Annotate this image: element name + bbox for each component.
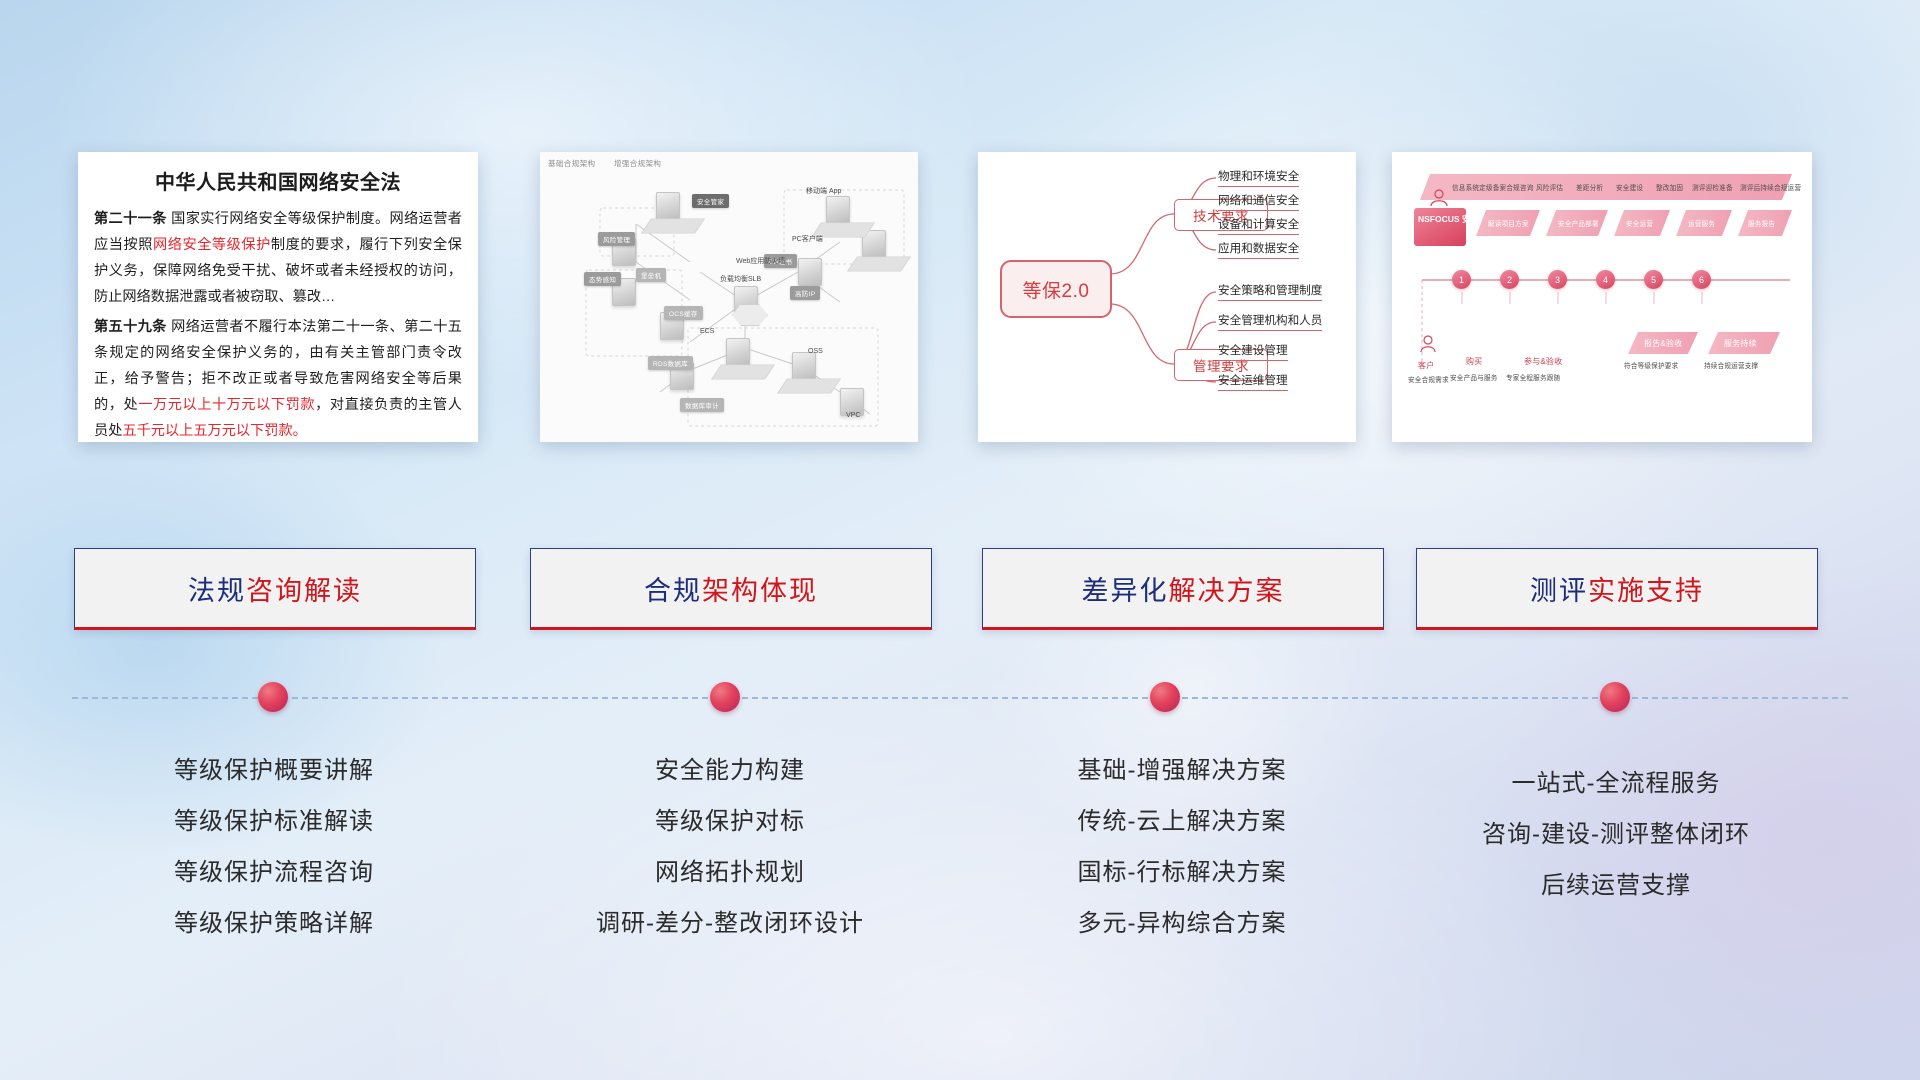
list-item: 传统-云上解决方案 <box>982 796 1382 847</box>
list-item: 等级保护标准解读 <box>74 796 474 847</box>
pillar-3-navy: 差异化 <box>1082 576 1169 606</box>
pillar-1-red: 咨询解读 <box>246 576 362 606</box>
list-item: 国标-行标解决方案 <box>982 847 1382 898</box>
list-item: 一站式-全流程服务 <box>1416 758 1816 809</box>
pillar-evaluation-support[interactable]: 测评实施支持 <box>1416 548 1818 630</box>
pillar-1-text: 法规咨询解读 <box>188 569 362 608</box>
list-item: 等级保护对标 <box>530 796 930 847</box>
timeline-dashed-line <box>72 697 1848 699</box>
pillar-2-red: 架构体现 <box>702 576 818 606</box>
pillar-4-text: 测评实施支持 <box>1530 569 1704 608</box>
pillar-2-text: 合规架构体现 <box>644 569 818 608</box>
column-differentiated-solution: 基础-增强解决方案 传统-云上解决方案 国标-行标解决方案 多元-异构综合方案 <box>982 745 1382 949</box>
list-item: 等级保护策略详解 <box>74 898 474 949</box>
pillar-1-navy: 法规 <box>188 576 246 606</box>
pillar-3-red: 解决方案 <box>1169 576 1285 606</box>
column-regulation-consulting: 等级保护概要讲解 等级保护标准解读 等级保护流程咨询 等级保护策略详解 <box>74 745 474 949</box>
list-item: 咨询-建设-测评整体闭环 <box>1416 809 1816 860</box>
timeline-dot-2[interactable] <box>710 682 740 712</box>
pillar-2-navy: 合规 <box>644 576 702 606</box>
list-item: 基础-增强解决方案 <box>982 745 1382 796</box>
column-evaluation-support: 一站式-全流程服务 咨询-建设-测评整体闭环 后续运营支撑 <box>1416 758 1816 911</box>
pillar-differentiated-solution[interactable]: 差异化解决方案 <box>982 548 1384 630</box>
pillar-4-navy: 测评 <box>1530 576 1588 606</box>
list-item: 网络拓扑规划 <box>530 847 930 898</box>
list-item: 调研-差分-整改闭环设计 <box>530 898 930 949</box>
list-item: 安全能力构建 <box>530 745 930 796</box>
timeline-dot-3[interactable] <box>1150 682 1180 712</box>
pillar-compliance-architecture[interactable]: 合规架构体现 <box>530 548 932 630</box>
pillar-4-red: 实施支持 <box>1588 576 1704 606</box>
pillar-regulation-consulting[interactable]: 法规咨询解读 <box>74 548 476 630</box>
pillar-3-text: 差异化解决方案 <box>1082 569 1285 608</box>
list-item: 等级保护概要讲解 <box>74 745 474 796</box>
list-item: 等级保护流程咨询 <box>74 847 474 898</box>
list-item: 多元-异构综合方案 <box>982 898 1382 949</box>
list-item: 后续运营支撑 <box>1416 860 1816 911</box>
timeline-dot-4[interactable] <box>1600 682 1630 712</box>
column-compliance-architecture: 安全能力构建 等级保护对标 网络拓扑规划 调研-差分-整改闭环设计 <box>530 745 930 949</box>
timeline-dot-1[interactable] <box>258 682 288 712</box>
